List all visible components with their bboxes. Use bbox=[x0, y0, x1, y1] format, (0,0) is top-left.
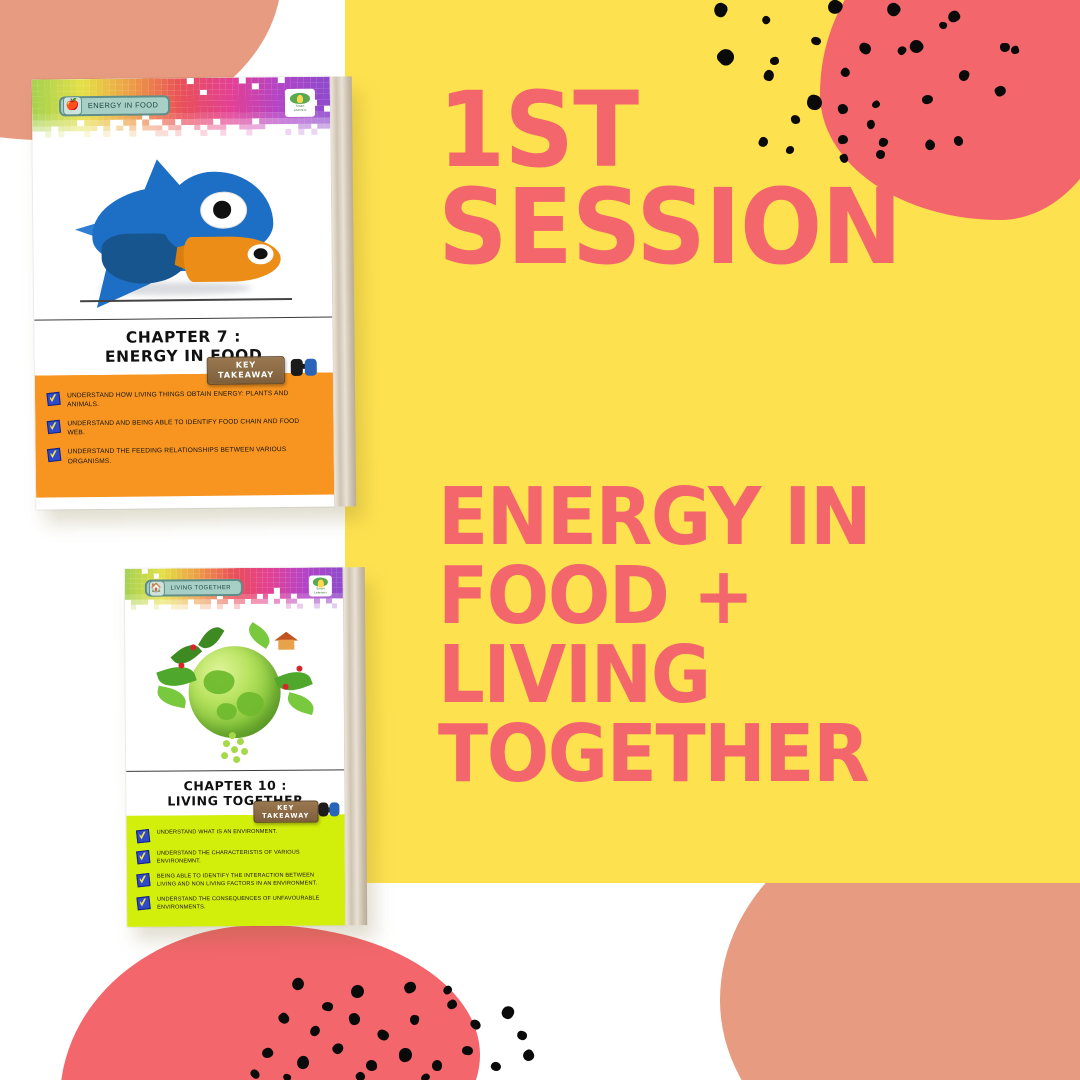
bud-icon bbox=[229, 732, 236, 739]
chapter-title-block: CHAPTER 7 : ENERGY IN FOOD bbox=[34, 317, 333, 376]
bud-icon bbox=[237, 738, 244, 745]
list-item-label: UNDERSTAND WHAT IS AN ENVIRONMENT. bbox=[157, 827, 278, 836]
lightbulb-cloud-logo: Smart Learners bbox=[285, 88, 315, 116]
continent-shape bbox=[203, 670, 234, 694]
house-illustration bbox=[276, 632, 296, 650]
berry-icon bbox=[283, 684, 289, 690]
house-icon: 🏠 bbox=[148, 580, 164, 596]
checkmark-icon bbox=[136, 896, 150, 910]
cloud-shape-icon bbox=[313, 577, 328, 586]
key-takeaway-list: UNDERSTAND HOW LIVING THINGS OBTAIN ENER… bbox=[35, 372, 334, 489]
list-item: UNDERSTAND THE CHARACTERISTIS OF VARIOUS… bbox=[137, 848, 333, 866]
list-item: UNDERSTAND AND BEING ABLE TO IDENTIFY FO… bbox=[47, 417, 317, 439]
checkmark-icon bbox=[136, 850, 150, 864]
key-takeaway-sign: KEY TAKEAWAY bbox=[253, 800, 318, 823]
poster-canvas: 1ST SESSION ENERGY IN FOOD + LIVING TOGE… bbox=[0, 0, 1080, 1080]
decorative-dot bbox=[499, 1004, 516, 1021]
logo-text-line2: Learners bbox=[294, 109, 307, 112]
decorative-dot bbox=[516, 1030, 528, 1042]
earth-globe bbox=[188, 646, 281, 739]
binoculars-right-barrel bbox=[305, 359, 317, 376]
pixel-mosaic-header: 🍎 ENERGY IN FOOD Smart Learners bbox=[32, 77, 331, 144]
bud-icon bbox=[231, 746, 238, 753]
leaf-shape bbox=[285, 692, 316, 715]
list-item: BEING ABLE TO IDENTIFY THE INTERACTION B… bbox=[137, 871, 333, 889]
cover-topic-badge: 🍎 ENERGY IN FOOD bbox=[59, 95, 171, 116]
binoculars-right-barrel bbox=[329, 802, 339, 816]
checkmark-icon bbox=[47, 420, 61, 434]
key-takeaway-sign: KEY TAKEAWAY bbox=[207, 356, 286, 385]
cover-illustration-globe bbox=[125, 613, 344, 771]
book-cover: 🍎 ENERGY IN FOOD Smart Learners bbox=[32, 77, 334, 510]
list-item-label: UNDERSTAND AND BEING ABLE TO IDENTIFY FO… bbox=[67, 417, 317, 439]
key-takeaway-line2: TAKEAWAY bbox=[218, 370, 274, 381]
book-mockup-energy-in-food[interactable]: 🍎 ENERGY IN FOOD Smart Learners bbox=[32, 76, 356, 509]
berry-icon bbox=[178, 662, 184, 668]
bud-icon bbox=[223, 740, 230, 747]
binoculars-icon bbox=[318, 802, 342, 818]
house-wall bbox=[278, 640, 294, 650]
leaf-shape bbox=[244, 622, 274, 649]
leaf-shape bbox=[155, 686, 188, 709]
key-takeaway-line2: TAKEAWAY bbox=[262, 811, 309, 819]
list-item-label: UNDERSTAND THE FEEDING RELATIONSHIPS BET… bbox=[68, 445, 318, 467]
list-item: UNDERSTAND HOW LIVING THINGS OBTAIN ENER… bbox=[47, 389, 317, 411]
shark-eye bbox=[200, 191, 246, 229]
book-mockup-living-together[interactable]: 🏠 LIVING TOGETHER Smart Learners bbox=[125, 567, 367, 927]
checkmark-icon bbox=[46, 392, 60, 406]
globe-illustration bbox=[154, 622, 315, 763]
list-item-label: UNDERSTAND THE CHARACTERISTIS OF VARIOUS… bbox=[157, 848, 333, 865]
bud-icon bbox=[221, 752, 228, 759]
bottom-left-coral-blob bbox=[60, 925, 480, 1080]
cover-topic-label: LIVING TOGETHER bbox=[170, 585, 231, 591]
list-item-label: BEING ABLE TO IDENTIFY THE INTERACTION B… bbox=[157, 871, 333, 888]
chapter-name-label: ENERGY IN FOOD bbox=[35, 345, 333, 367]
checkmark-icon bbox=[136, 829, 150, 843]
page-subtitle: ENERGY IN FOOD + LIVING TOGETHER bbox=[438, 478, 1033, 794]
cover-illustration-shark bbox=[32, 141, 332, 320]
pixel-mosaic-header: 🏠 LIVING TOGETHER Smart Learners bbox=[125, 567, 343, 615]
list-item: UNDERSTAND THE FEEDING RELATIONSHIPS BET… bbox=[48, 445, 318, 467]
decorative-dot bbox=[521, 1048, 536, 1063]
continent-shape bbox=[236, 692, 264, 716]
cover-topic-label: ENERGY IN FOOD bbox=[88, 100, 159, 110]
list-item: UNDERSTAND THE CONSEQUENCES OF UNFAVOURA… bbox=[137, 894, 333, 912]
chapter-number-label: CHAPTER 10 : bbox=[126, 777, 344, 794]
lightbulb-icon bbox=[317, 579, 323, 587]
key-takeaway-band: KEY TAKEAWAY UNDERSTAND WHAT IS AN ENVIR… bbox=[126, 814, 345, 926]
key-takeaway-line1: KEY bbox=[218, 360, 274, 371]
berry-icon bbox=[190, 644, 196, 650]
key-takeaway-band: KEY TAKEAWAY UNDERSTAND HOW LIVING THING… bbox=[35, 372, 334, 497]
bud-icon bbox=[241, 748, 248, 755]
cover-topic-badge: 🏠 LIVING TOGETHER bbox=[144, 579, 243, 597]
logo-text-line2: Learners bbox=[314, 592, 327, 595]
continent-shape bbox=[216, 703, 236, 720]
book-cover: 🏠 LIVING TOGETHER Smart Learners bbox=[125, 567, 345, 927]
key-takeaway-list: UNDERSTAND WHAT IS AN ENVIRONMENT.UNDERS… bbox=[126, 814, 345, 927]
list-item: UNDERSTAND WHAT IS AN ENVIRONMENT. bbox=[137, 827, 333, 842]
shark-illustration bbox=[74, 155, 296, 305]
checkmark-icon bbox=[136, 873, 150, 887]
bud-icon bbox=[233, 756, 240, 763]
checkmark-icon bbox=[47, 448, 61, 462]
sprout-cluster bbox=[209, 732, 261, 766]
lightbulb-cloud-logo: Smart Learners bbox=[309, 576, 332, 597]
berry-icon bbox=[296, 666, 302, 672]
decorative-dot bbox=[490, 1060, 503, 1072]
apple-icon: 🍎 bbox=[63, 96, 82, 115]
list-item-label: UNDERSTAND THE CONSEQUENCES OF UNFAVOURA… bbox=[157, 894, 333, 911]
lightbulb-icon bbox=[297, 95, 303, 103]
cloud-shape-icon bbox=[290, 92, 310, 103]
list-item-label: UNDERSTAND HOW LIVING THINGS OBTAIN ENER… bbox=[67, 389, 317, 411]
page-title: 1ST SESSION bbox=[438, 82, 1015, 275]
binoculars-left-barrel bbox=[318, 802, 328, 816]
binoculars-icon bbox=[291, 358, 321, 378]
